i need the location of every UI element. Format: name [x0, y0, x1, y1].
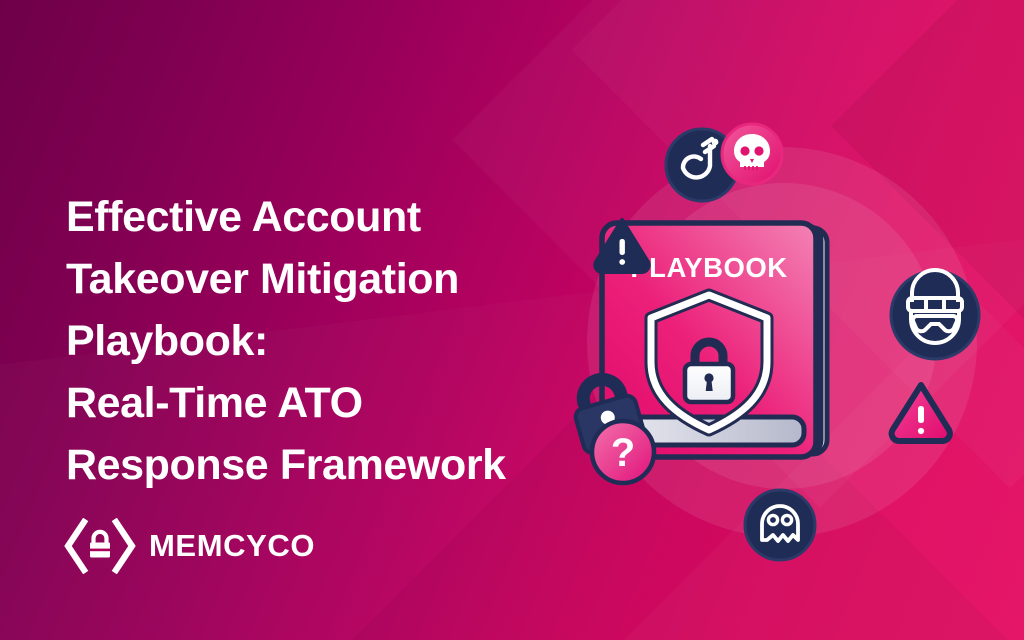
badge-question-mark: ?: [592, 421, 654, 483]
logo-wordmark: MEMCYCO: [149, 528, 315, 564]
warning-dot: [918, 428, 924, 434]
illustration-canvas: PLAYBOOK: [540, 110, 1024, 580]
question-mark-icon: ?: [611, 431, 635, 475]
warning-bar: [620, 239, 625, 255]
badge-skull: [722, 124, 782, 184]
badge-ghost: [745, 490, 815, 560]
playbook-illustration: PLAYBOOK: [540, 110, 1024, 580]
badge-burglar-mask: [891, 270, 979, 359]
copy-block: Effective Account Takeover Mitigation Pl…: [66, 186, 606, 496]
skull-eye-right: [754, 146, 763, 155]
bracket-padlock-icon: [64, 518, 136, 574]
warning-dot: [619, 259, 625, 265]
page-title: Effective Account Takeover Mitigation Pl…: [66, 186, 606, 496]
hero-banner: Effective Account Takeover Mitigation Pl…: [0, 0, 1024, 640]
brand-logo[interactable]: MEMCYCO: [64, 518, 315, 574]
warning-bar: [918, 406, 924, 423]
ghost-icon-circle: [745, 490, 815, 560]
fish-hook-eye: [712, 139, 719, 146]
book-cover-title: PLAYBOOK: [630, 252, 787, 283]
skull-eye-left: [740, 146, 749, 155]
